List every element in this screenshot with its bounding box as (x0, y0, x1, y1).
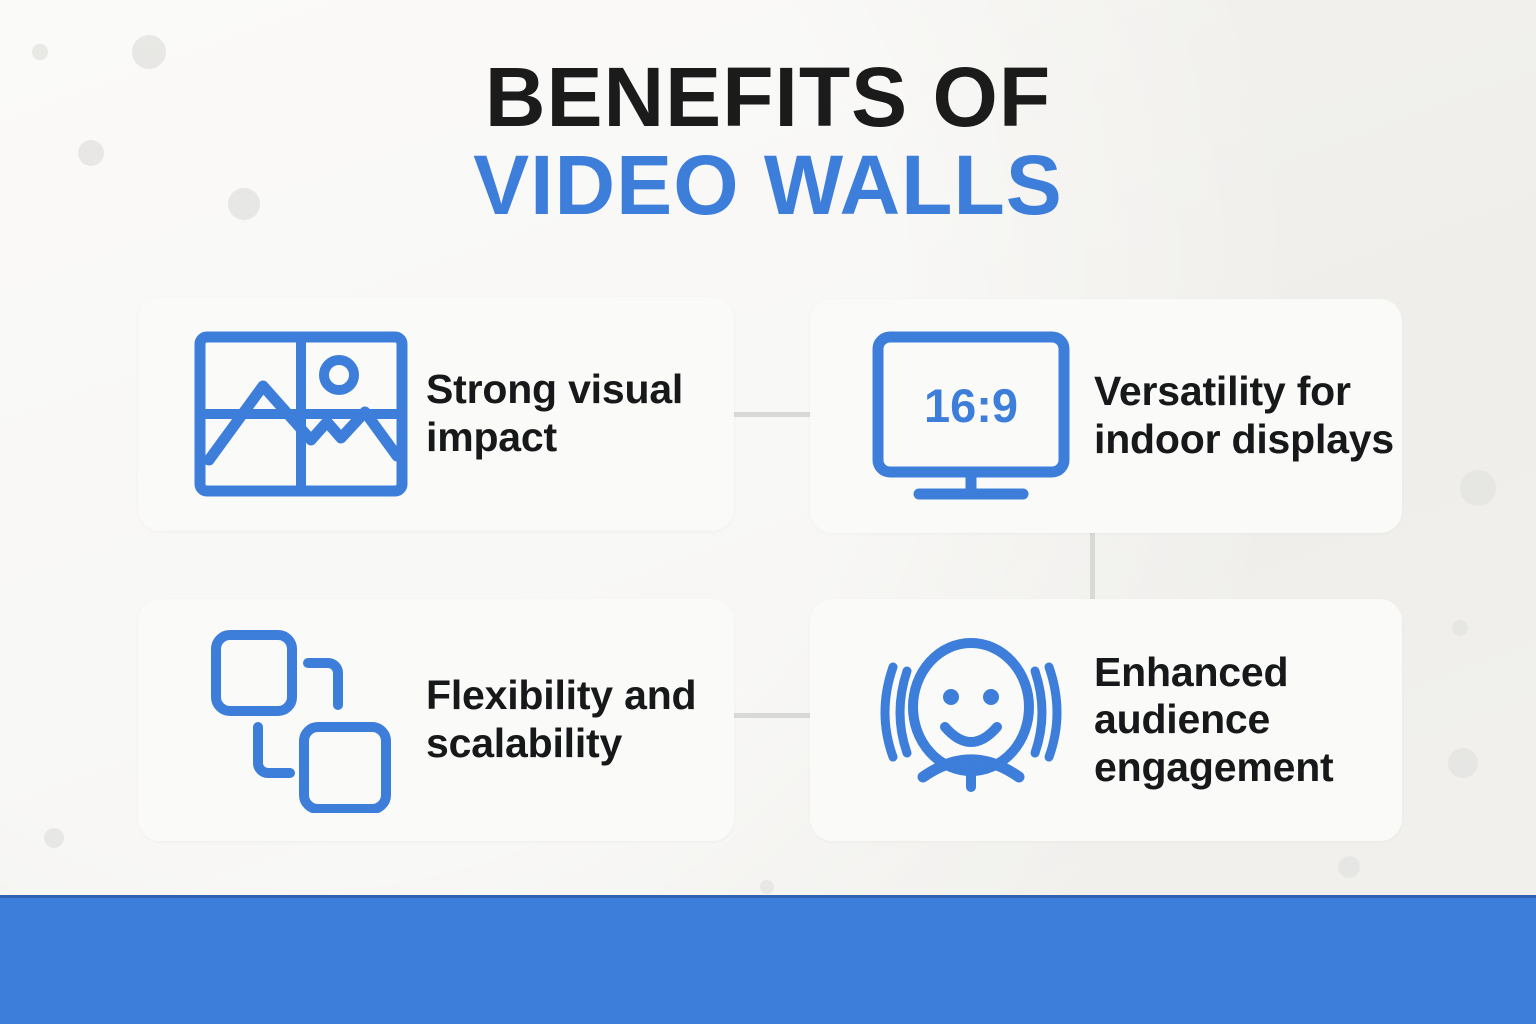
decorative-dot (1338, 856, 1360, 878)
page-title: BENEFITS OF VIDEO WALLS (0, 56, 1536, 227)
title-line-1: BENEFITS OF (0, 56, 1536, 138)
aspect-ratio-text: 16:9 (924, 379, 1018, 432)
decorative-dot (1452, 620, 1468, 636)
decorative-dot (1448, 748, 1478, 778)
decorative-dot (44, 828, 64, 848)
connector-card1-card2 (733, 412, 811, 417)
infographic-canvas: BENEFITS OF VIDEO WALLS Strong visual im… (0, 0, 1536, 1024)
decorative-dot (760, 880, 774, 894)
benefit-card-versatility-indoor-displays[interactable]: 16:9 Versatility for indoor displays (810, 299, 1402, 533)
benefit-card-flexibility-scalability[interactable]: Flexibility and scalability (138, 599, 734, 841)
video-wall-grid-image-icon (138, 330, 426, 498)
benefit-card-strong-visual-impact[interactable]: Strong visual impact (138, 297, 734, 531)
benefit-label: Versatility for indoor displays (1094, 368, 1402, 463)
connector-card3-card4 (733, 713, 811, 718)
benefit-label: Strong visual impact (426, 366, 734, 461)
bottom-blue-band (0, 895, 1536, 1024)
smiley-person-engagement-icon (810, 625, 1094, 815)
benefit-label: Enhanced audience engagement (1094, 649, 1402, 792)
decorative-dot (1460, 470, 1496, 506)
monitor-16-9-icon: 16:9 (810, 330, 1094, 502)
benefit-card-enhanced-audience-engagement[interactable]: Enhanced audience engagement (810, 599, 1402, 841)
benefit-label: Flexibility and scalability (426, 672, 734, 767)
connector-card2-card4 (1090, 533, 1095, 601)
modular-squares-connector-icon (138, 627, 426, 813)
title-line-2: VIDEO WALLS (0, 144, 1536, 226)
